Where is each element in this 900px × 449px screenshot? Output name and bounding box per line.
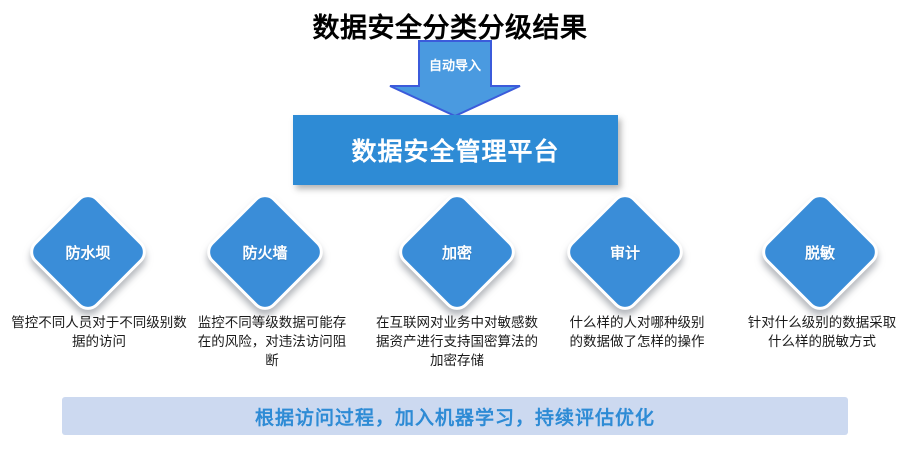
node-fanghuoqiang[interactable]: 防火墙 [177, 198, 353, 306]
node-description: 针对什么级别的数据采取什么样的脱敏方式 [746, 313, 898, 351]
diamond-shape [201, 188, 328, 315]
node-jiami[interactable]: 加密 [369, 198, 545, 306]
slide-canvas: 数据安全分类分级结果 自动导入 数据安全管理平台 防水坝 防火墙 加密 审计 [0, 0, 900, 449]
node-fangshuiba[interactable]: 防水坝 [0, 198, 176, 306]
summary-banner: 根据访问过程，加入机器学习，持续评估优化 [62, 397, 848, 435]
node-description: 在互联网对业务中对敏感数据资产进行支持国密算法的加密存储 [371, 313, 543, 370]
diamond-shape [393, 188, 520, 315]
diamond-shape [756, 188, 883, 315]
platform-box[interactable]: 数据安全管理平台 [293, 115, 618, 185]
node-tuomin[interactable]: 脱敏 [732, 198, 900, 306]
node-shenji[interactable]: 审计 [537, 198, 713, 306]
platform-label: 数据安全管理平台 [351, 132, 559, 168]
node-description: 监控不同等级数据可能存在的风险，对违法访问阻断 [196, 313, 348, 370]
auto-import-arrow: 自动导入 [388, 40, 522, 118]
capability-description-row: 管控不同人员对于不同级别数据的访问 监控不同等级数据可能存在的风险，对违法访问阻… [0, 313, 900, 385]
diamond-shape [24, 188, 151, 315]
capability-node-row: 防水坝 防火墙 加密 审计 脱敏 [0, 198, 900, 308]
summary-banner-label: 根据访问过程，加入机器学习，持续评估优化 [255, 403, 655, 430]
diamond-shape [561, 188, 688, 315]
down-arrow-icon [388, 40, 522, 118]
node-description: 管控不同人员对于不同级别数据的访问 [10, 313, 188, 351]
node-description: 什么样的人对哪种级别的数据做了怎样的操作 [563, 313, 711, 351]
